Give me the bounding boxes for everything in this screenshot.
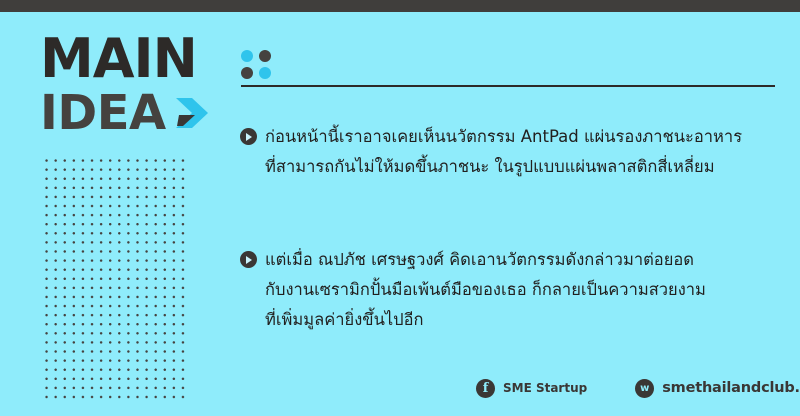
play-circle-icon bbox=[240, 128, 257, 145]
dot-top-right-icon bbox=[259, 50, 271, 62]
dot-bottom-left-icon bbox=[241, 67, 253, 79]
chevron-right-icon bbox=[176, 96, 208, 130]
paragraph-text: ก่อนหน้านี้เราอาจเคยเห็นนวัตกรรม AntPad … bbox=[265, 122, 800, 182]
paragraph-line: กับงานเซรามิกปั้นมือเพ้นต์มือของเธอ ก็กล… bbox=[265, 275, 800, 305]
footer-bar: f SME Startup w smethailandclub.com bbox=[236, 376, 796, 400]
paragraph-line: แต่เมื่อ ณปภัช เศรษฐวงศ์ คิดเอานวัตกรรมด… bbox=[265, 245, 800, 275]
paragraph-line: ก่อนหน้านี้เราอาจเคยเห็นนวัตกรรม AntPad … bbox=[265, 122, 800, 152]
facebook-icon: f bbox=[476, 379, 495, 398]
brand-block: MAIN IDEA bbox=[40, 32, 220, 138]
play-circle-icon bbox=[240, 251, 257, 268]
dot-grid-pattern bbox=[42, 156, 188, 402]
content-column: ก่อนหน้านี้เราอาจเคยเห็นนวัตกรรม AntPad … bbox=[240, 0, 800, 416]
brand-title-idea: IDEA bbox=[40, 88, 166, 138]
brand-title-main: MAIN bbox=[40, 32, 220, 86]
footer-website-link[interactable]: w smethailandclub.com bbox=[635, 379, 800, 398]
brand-subtitle-row: IDEA bbox=[40, 88, 220, 138]
footer-label-website: smethailandclub.com bbox=[662, 380, 800, 396]
decorative-dots bbox=[241, 50, 273, 80]
footer-facebook-link[interactable]: f SME Startup bbox=[476, 379, 587, 398]
paragraph-item: ก่อนหน้านี้เราอาจเคยเห็นนวัตกรรม AntPad … bbox=[240, 122, 800, 182]
paragraph-text: แต่เมื่อ ณปภัช เศรษฐวงศ์ คิดเอานวัตกรรมด… bbox=[265, 245, 800, 335]
paragraph-line: ที่เพิ่มมูลค่ายิ่งขึ้นไปอีก bbox=[265, 305, 800, 335]
paragraph-line: ที่สามารถกันไม่ให้มดขึ้นภาชนะ ในรูปแบบแผ… bbox=[265, 152, 800, 182]
dot-bottom-right-icon bbox=[259, 67, 271, 79]
main-idea-card: MAIN IDEA ก่อนหน้านี้เราอาจ bbox=[0, 0, 800, 416]
website-icon: w bbox=[635, 379, 654, 398]
footer-label-facebook: SME Startup bbox=[503, 381, 587, 395]
dot-top-left-icon bbox=[241, 50, 253, 62]
horizontal-divider bbox=[241, 85, 775, 87]
paragraph-item: แต่เมื่อ ณปภัช เศรษฐวงศ์ คิดเอานวัตกรรมด… bbox=[240, 245, 800, 335]
